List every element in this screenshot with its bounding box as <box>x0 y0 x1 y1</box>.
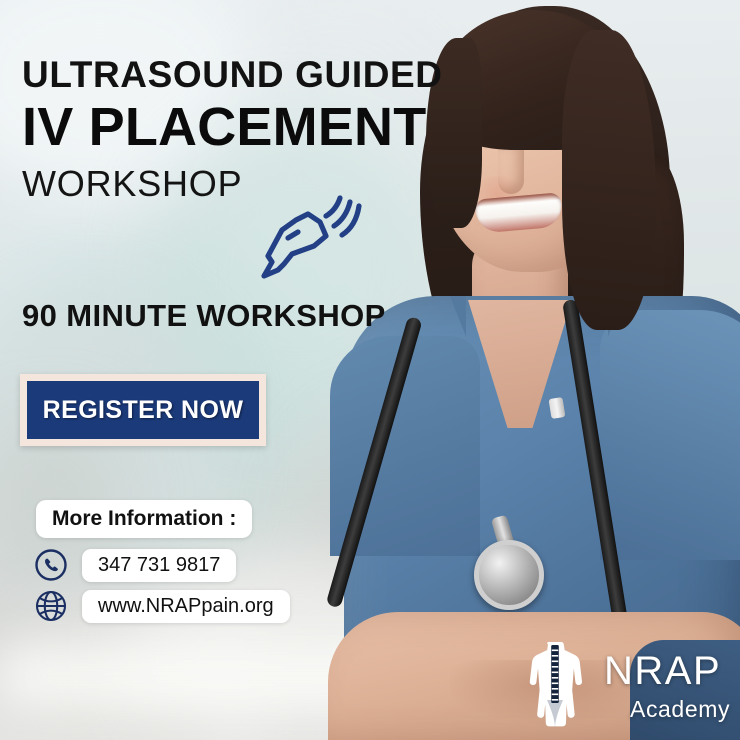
logo-subtitle: Academy <box>630 698 730 721</box>
hair-side-right <box>562 30 656 330</box>
headline-line-3: WORKSHOP <box>22 164 452 204</box>
logo-text-block: NRAP Academy <box>604 651 730 721</box>
stethoscope-clip <box>549 397 566 419</box>
register-now-button[interactable]: REGISTER NOW <box>27 381 259 439</box>
register-button-frame: REGISTER NOW <box>20 374 266 446</box>
promotional-poster: ULTRASOUND GUIDED IV PLACEMENT WORKSHOP … <box>0 0 740 740</box>
contact-row-website[interactable]: www.NRAPpain.org <box>34 589 290 623</box>
contact-row-phone[interactable]: 347 731 9817 <box>34 548 236 582</box>
phone-number[interactable]: 347 731 9817 <box>82 549 236 582</box>
headline-block: ULTRASOUND GUIDED IV PLACEMENT WORKSHOP <box>22 56 452 204</box>
shoulder-right <box>600 310 740 560</box>
stethoscope-chestpiece <box>474 540 544 610</box>
spine-torso-icon <box>518 640 592 732</box>
nose <box>498 150 524 194</box>
headline-line-1: ULTRASOUND GUIDED <box>22 56 452 95</box>
globe-icon <box>34 589 68 623</box>
more-information-heading: More Information : <box>36 500 252 538</box>
headline-line-2: IV PLACEMENT <box>22 99 452 156</box>
website-url[interactable]: www.NRAPpain.org <box>82 590 290 623</box>
ultrasound-probe-icon <box>252 186 362 284</box>
phone-icon <box>34 548 68 582</box>
nrap-academy-logo: NRAP Academy <box>518 638 726 734</box>
logo-name: NRAP <box>604 651 730 691</box>
duration-text: 90 MINUTE WORKSHOP <box>22 298 386 334</box>
